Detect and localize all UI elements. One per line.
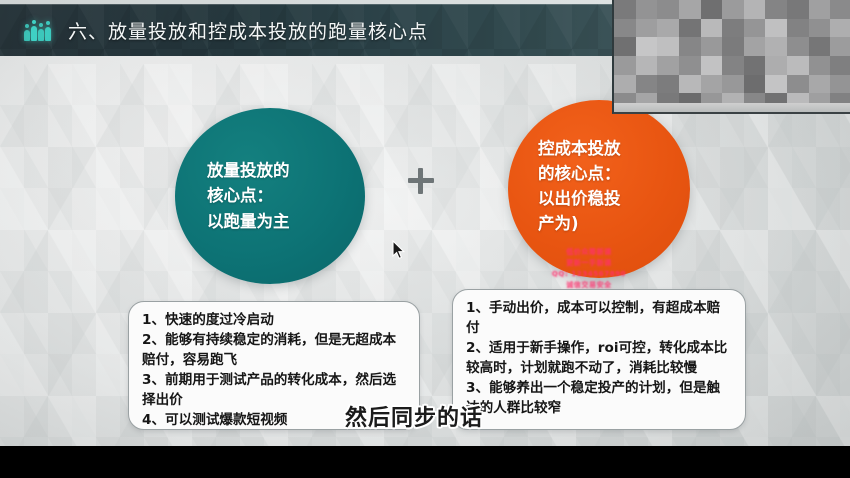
webcam-pixel	[636, 56, 658, 75]
letterbox-bottom	[0, 446, 850, 478]
webcam-pixel	[636, 37, 658, 56]
webcam-pixel	[765, 56, 787, 75]
webcam-pixel	[614, 75, 636, 94]
card-left-item-1: 1、快速的度过冷启动	[142, 311, 406, 331]
webcam-pixel	[787, 56, 809, 75]
webcam-pixel	[722, 0, 744, 19]
webcam-pixel	[614, 19, 636, 38]
webcam-bottom-strip	[614, 103, 850, 112]
webcam-pixel	[830, 37, 850, 56]
webcam-pixel	[765, 37, 787, 56]
webcam-pixel	[809, 75, 831, 94]
webcam-pixel	[679, 0, 701, 19]
webcam-pixel	[679, 56, 701, 75]
card-right-item-2: 2、适用于新手操作，roi可控，转化成本比较高时，计划就跑不动了，消耗比较慢	[466, 339, 732, 379]
webcam-pixel	[614, 0, 636, 19]
webcam-pixel	[787, 0, 809, 19]
webcam-pixel	[809, 56, 831, 75]
bubble-orange-text: 控成本投放 的核心点： 以出价稳投 产为)	[538, 136, 621, 236]
webcam-pixel	[722, 56, 744, 75]
webcam-pixel	[765, 75, 787, 94]
bubble-kongchengben-touangfang: 控成本投放 的核心点： 以出价稳投 产为)	[508, 100, 690, 278]
webcam-pixel	[701, 56, 723, 75]
webcam-pixel	[636, 75, 658, 94]
webcam-pixel	[657, 19, 679, 38]
webcam-pixel	[765, 0, 787, 19]
webcam-pixel	[614, 56, 636, 75]
webcam-pixel	[679, 19, 701, 38]
card-right-item-3: 3、能够养出一个稳定投产的计划，但是触达的人群比较窄	[466, 379, 732, 419]
card-right-body: 1、手动出价，成本可以控制，有超成本赔付 2、适用于新手操作，roi可控，转化成…	[453, 290, 745, 427]
card-right-item-1: 1、手动出价，成本可以控制，有超成本赔付	[466, 299, 732, 339]
webcam-pixel	[809, 37, 831, 56]
webcam-pixel	[701, 0, 723, 19]
webcam-pixel	[830, 75, 850, 94]
webcam-pixel	[744, 75, 766, 94]
plus-operator-icon	[408, 168, 434, 194]
webcam-pixel	[787, 19, 809, 38]
webcam-pixel	[657, 56, 679, 75]
webcam-overlay[interactable]	[612, 0, 850, 114]
mouse-cursor	[392, 240, 406, 260]
webcam-pixel	[701, 19, 723, 38]
webcam-pixel	[830, 19, 850, 38]
slide-title: 六、放量投放和控成本投放的跑量核心点	[68, 17, 428, 44]
people-group-icon	[20, 19, 54, 41]
webcam-pixel	[679, 37, 701, 56]
video-subtitle: 然后同步的话	[345, 400, 483, 432]
card-right: 1、手动出价，成本可以控制，有超成本赔付 2、适用于新手操作，roi可控，转化成…	[452, 289, 746, 430]
slide-header-bar: 六、放量投放和控成本投放的跑量核心点	[0, 4, 620, 56]
webcam-pixel	[787, 37, 809, 56]
webcam-pixel	[809, 0, 831, 19]
bubble-fangliang-touangfang: 放量投放的 核心点： 以跑量为主	[175, 108, 365, 284]
webcam-pixel	[830, 56, 850, 75]
webcam-pixel	[830, 0, 850, 19]
webcam-pixel	[744, 19, 766, 38]
webcam-pixel	[722, 75, 744, 94]
webcam-pixel	[744, 37, 766, 56]
webcam-pixel	[657, 37, 679, 56]
webcam-pixel	[701, 37, 723, 56]
webcam-pixel	[701, 75, 723, 94]
webcam-pixel	[614, 37, 636, 56]
webcam-pixel	[722, 37, 744, 56]
webcam-pixel	[765, 19, 787, 38]
bubble-teal-text: 放量投放的 核心点： 以跑量为主	[207, 158, 290, 233]
webcam-mosaic-pixels	[614, 0, 850, 112]
webcam-pixel	[787, 75, 809, 94]
webcam-pixel	[722, 19, 744, 38]
webcam-pixel	[744, 56, 766, 75]
webcam-pixel	[679, 75, 701, 94]
presentation-slide: 六、放量投放和控成本投放的跑量核心点 放量投放的 核心点： 以跑量为主 控成本投…	[0, 0, 850, 446]
webcam-pixel	[657, 0, 679, 19]
webcam-pixel	[744, 0, 766, 19]
webcam-pixel	[636, 19, 658, 38]
webcam-pixel	[636, 0, 658, 19]
webcam-pixel	[657, 75, 679, 94]
webcam-pixel	[809, 19, 831, 38]
card-left-item-2: 2、能够有持续稳定的消耗，但是无超成本赔付，容易跑飞	[142, 331, 406, 371]
screen-capture: 六、放量投放和控成本投放的跑量核心点 放量投放的 核心点： 以跑量为主 控成本投…	[0, 0, 850, 478]
